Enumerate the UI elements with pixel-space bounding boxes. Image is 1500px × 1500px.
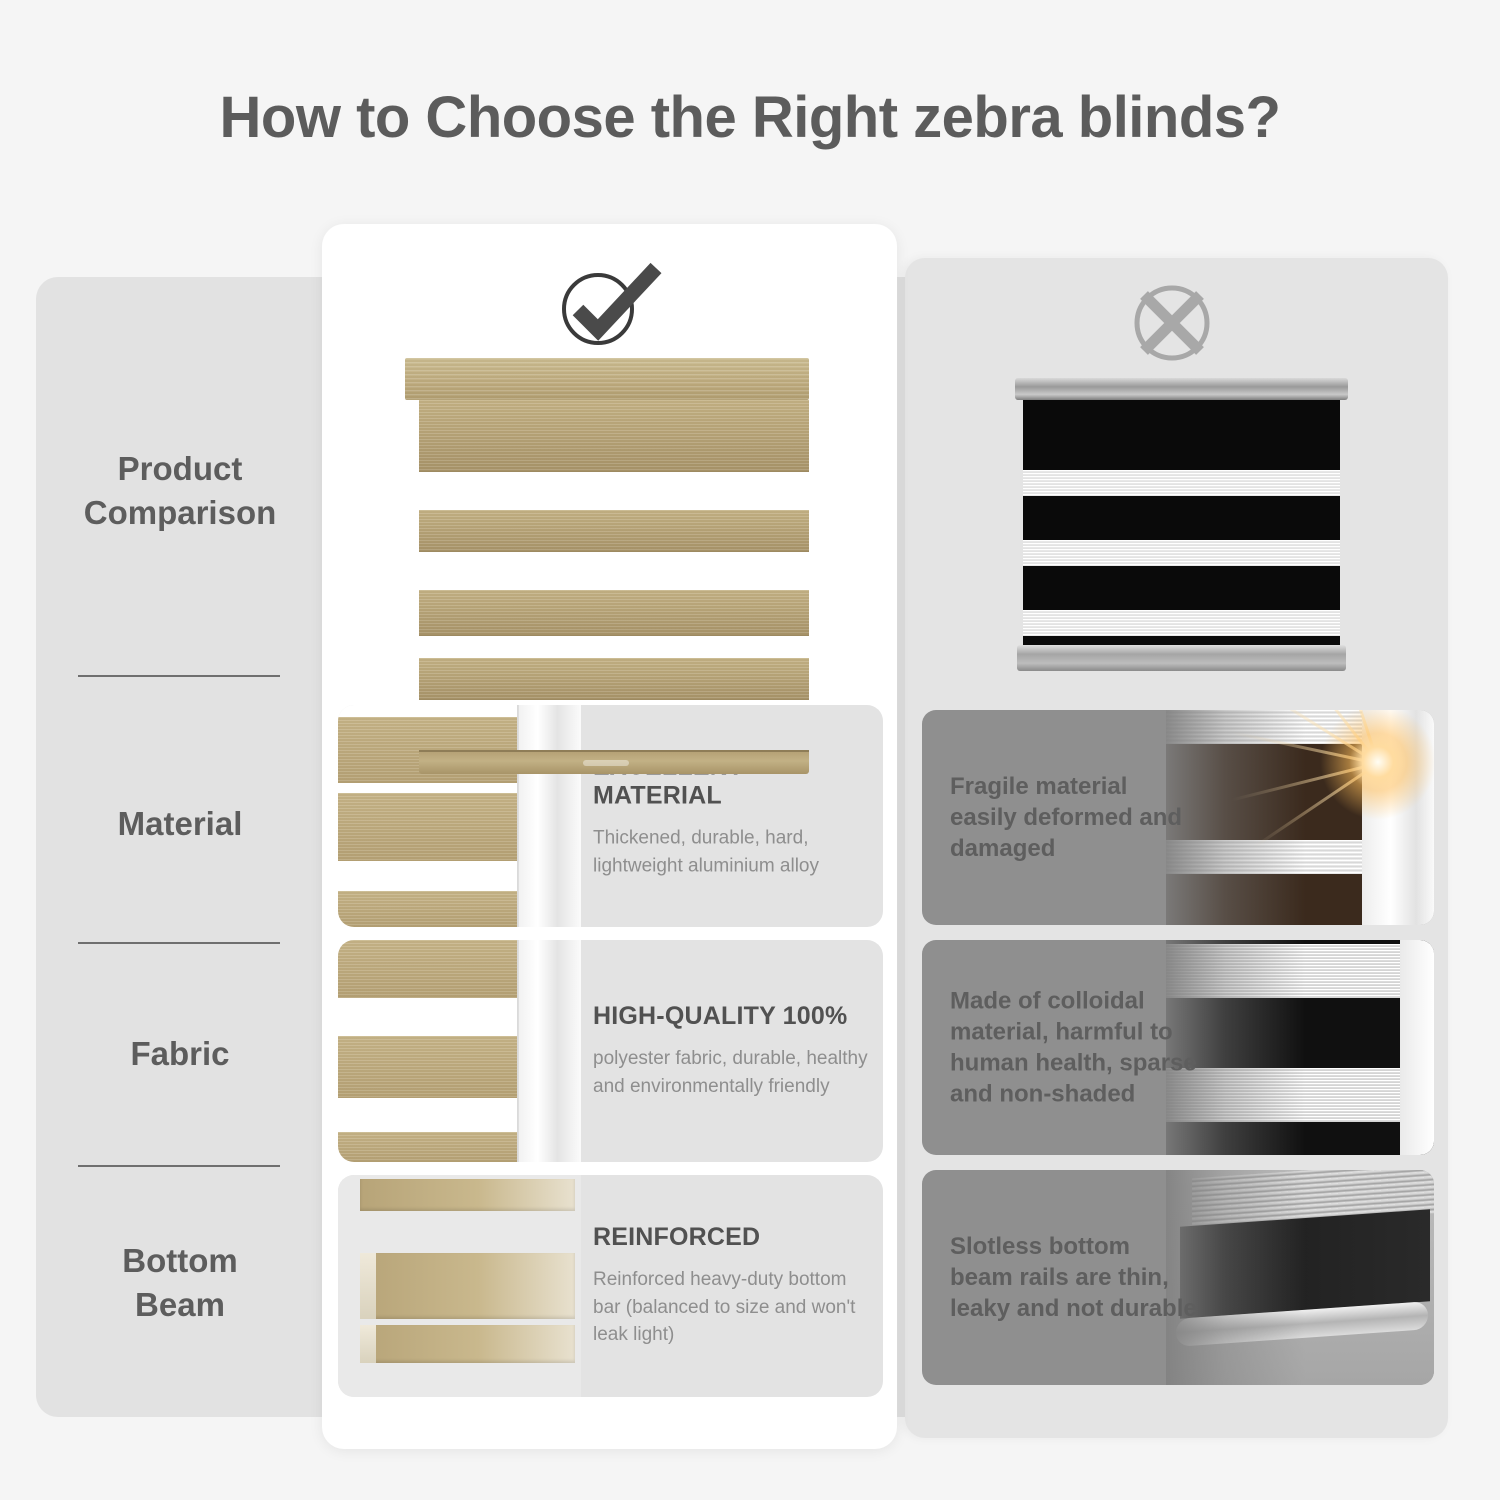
rail-divider [78, 942, 280, 944]
row-label-line: Beam [135, 1286, 225, 1323]
row-label-rail: Product Comparison Material Fabric Botto… [36, 277, 324, 1417]
beige-blind-bottom-bar-photo [338, 1175, 581, 1397]
row-label-fabric: Fabric [36, 1032, 324, 1076]
bad-feature-text: Made of colloidal material, harmful to h… [950, 985, 1198, 1110]
sparse-striped-fabric-photo [1166, 940, 1434, 1155]
blind-valance [405, 358, 809, 400]
light-leak-sun-flare-photo [1166, 710, 1434, 925]
good-feature-title: HIGH-QUALITY 100% [593, 1002, 871, 1031]
page-title: How to Choose the Right zebra blinds? [0, 84, 1500, 151]
rail-divider [78, 675, 280, 677]
bad-feature-text: Slotless bottom beam rails are thin, lea… [950, 1231, 1198, 1325]
row-label-line: Comparison [84, 494, 277, 531]
bad-feature-text: Fragile material easily deformed and dam… [950, 771, 1198, 865]
bad-feature-material: Fragile material easily deformed and dam… [922, 710, 1434, 925]
thin-bottom-rail-photo [1166, 1170, 1434, 1385]
good-feature-body: polyester fabric, durable, healthy and e… [593, 1045, 871, 1100]
good-feature-body: Thickened, durable, hard, lightweight al… [593, 824, 871, 879]
row-label-material: Material [36, 802, 324, 846]
cross-circle-icon [1125, 276, 1219, 370]
good-feature-fabric: HIGH-QUALITY 100% polyester fabric, dura… [338, 940, 883, 1162]
beige-blind-fabric-photo [338, 940, 581, 1162]
bad-feature-bottom-beam: Slotless bottom beam rails are thin, lea… [922, 1170, 1434, 1385]
good-feature-bottom-beam: REINFORCED Reinforced heavy-duty bottom … [338, 1175, 883, 1397]
blind-bottom-bar [419, 750, 809, 774]
row-label-bottom-beam: Bottom Beam [36, 1239, 324, 1327]
good-feature-material: EXCELLENT MATERIAL Thickened, durable, h… [338, 705, 883, 927]
blind-head-rail [1015, 378, 1348, 400]
good-feature-title: REINFORCED [593, 1223, 871, 1252]
row-label-line: Bottom [122, 1242, 237, 1279]
row-label-line: Product [118, 450, 243, 487]
check-circle-icon [552, 262, 664, 352]
bad-feature-fabric: Made of colloidal material, harmful to h… [922, 940, 1434, 1155]
rail-divider [78, 1165, 280, 1167]
good-feature-body: Reinforced heavy-duty bottom bar (balanc… [593, 1266, 871, 1349]
blind-bottom-rail [1017, 645, 1346, 671]
beige-blind-window-frame-photo [338, 705, 581, 927]
sun-flare-icon [1318, 710, 1434, 822]
row-label-product-comparison: Product Comparison [36, 447, 324, 535]
black-zebra-blind-hero-image [1015, 378, 1348, 671]
beige-zebra-blind-hero-image [405, 358, 809, 698]
